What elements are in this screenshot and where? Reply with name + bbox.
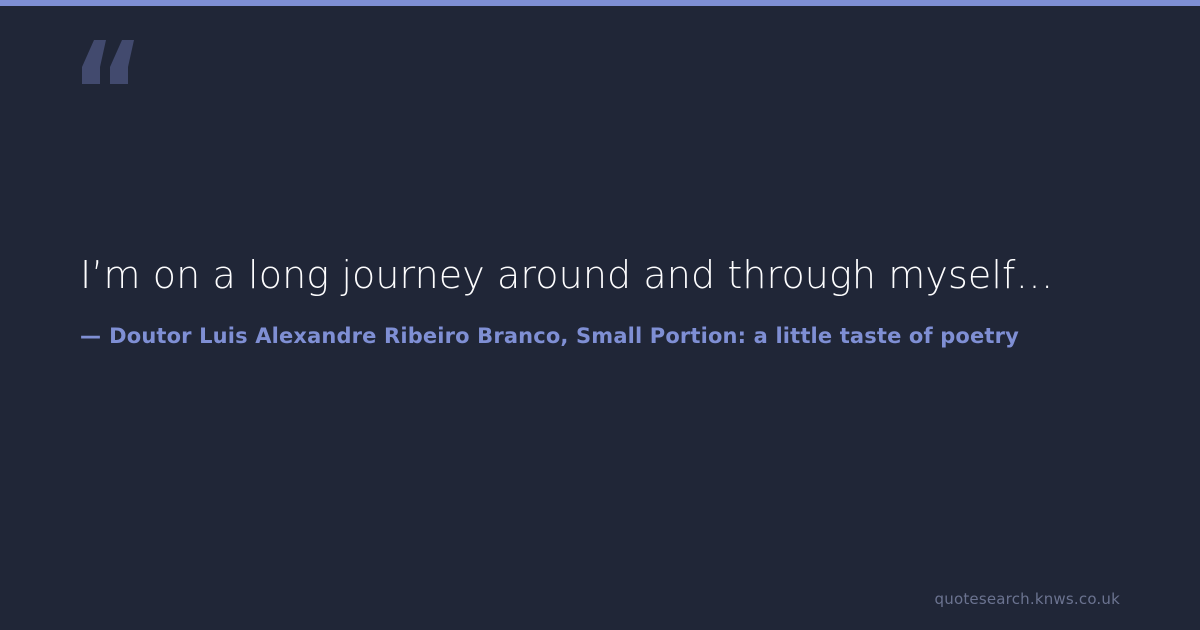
quote-content: I’m on a long journey around and through… — [80, 250, 1140, 350]
attribution-dash: — — [80, 324, 101, 348]
quote-attribution: —Doutor Luis Alexandre Ribeiro Branco, S… — [80, 322, 1140, 350]
source-watermark: quotesearch.knws.co.uk — [935, 590, 1120, 608]
quote-text: I’m on a long journey around and through… — [80, 250, 1140, 300]
top-accent-bar — [0, 0, 1200, 6]
attribution-text: Doutor Luis Alexandre Ribeiro Branco, Sm… — [109, 324, 1019, 348]
open-quote-icon — [80, 40, 140, 84]
quote-card: I’m on a long journey around and through… — [0, 0, 1200, 630]
